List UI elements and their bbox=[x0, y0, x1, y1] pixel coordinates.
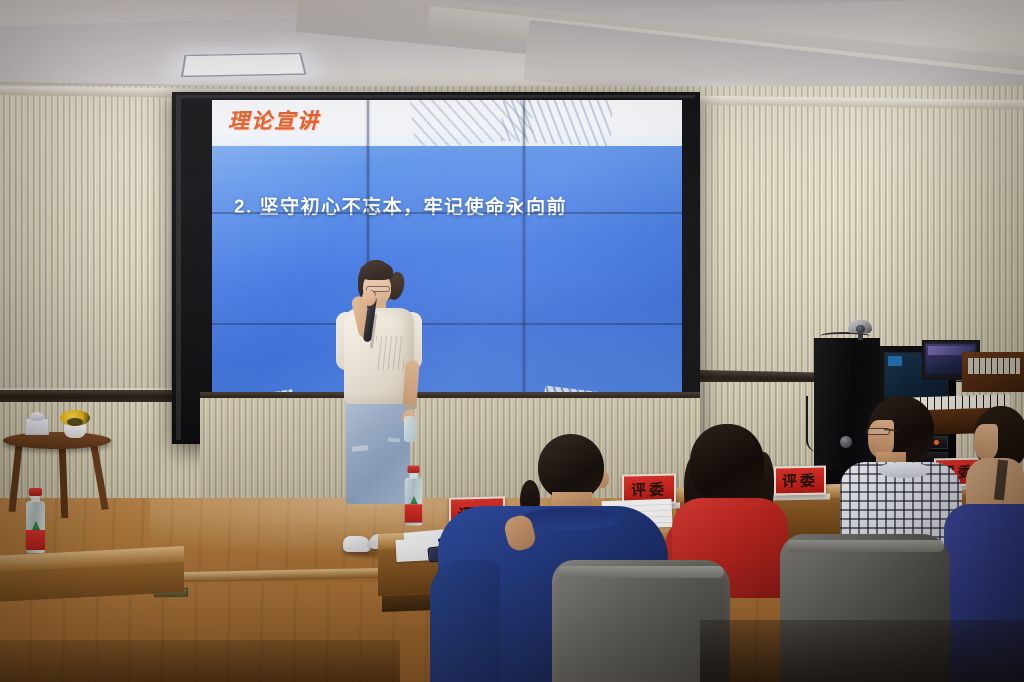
audience-blue-shirt-arm bbox=[430, 560, 500, 682]
audience-far-right-face bbox=[974, 424, 998, 460]
shirt-collar bbox=[520, 508, 620, 530]
round-wooden-side-table bbox=[3, 432, 111, 449]
presenter-hand-left bbox=[362, 290, 376, 306]
bottle-neck bbox=[409, 472, 417, 478]
audience-red-shirt-head bbox=[690, 424, 764, 502]
conference-room-photo: 理论宣讲 2. 坚守初心不忘本，牢记使命永向前 bbox=[0, 0, 1024, 682]
audience-blue-shirt-head bbox=[538, 434, 604, 500]
flower-pot bbox=[64, 424, 86, 438]
rack-led-indicator bbox=[934, 440, 939, 445]
presenter-hair-front bbox=[360, 262, 393, 280]
video-wall-glare bbox=[212, 100, 682, 435]
presenter-jeans bbox=[346, 400, 410, 504]
bottle-label bbox=[26, 530, 45, 550]
piano-panel bbox=[968, 358, 1020, 374]
chair-headrest-edge bbox=[786, 540, 944, 552]
rack-knob[interactable] bbox=[840, 436, 852, 448]
bottle-neck bbox=[31, 495, 40, 502]
tissue-sheet bbox=[30, 412, 44, 421]
flower-foliage bbox=[67, 418, 83, 426]
bottle-cap bbox=[408, 466, 420, 473]
tshirt-graphic-print bbox=[376, 336, 404, 370]
rack-monitor-glow bbox=[888, 356, 902, 366]
water-bottle-held bbox=[404, 416, 416, 442]
foreground-shadow bbox=[700, 620, 1024, 682]
chair-headrest-edge bbox=[558, 566, 724, 578]
bottle-cap bbox=[29, 488, 42, 496]
water-bottle-left-table bbox=[26, 488, 45, 554]
ceiling-panel-light-left-icon bbox=[181, 53, 307, 77]
bottle-label bbox=[405, 504, 422, 522]
wristwatch bbox=[404, 404, 417, 409]
camera-lens-icon bbox=[856, 325, 865, 333]
presenter-shoe-left bbox=[343, 536, 371, 552]
shirt-collar bbox=[878, 462, 930, 478]
placard-judge: 评委 bbox=[774, 466, 826, 496]
floor-shadow-left bbox=[0, 640, 400, 682]
water-bottle-stage bbox=[405, 466, 422, 527]
